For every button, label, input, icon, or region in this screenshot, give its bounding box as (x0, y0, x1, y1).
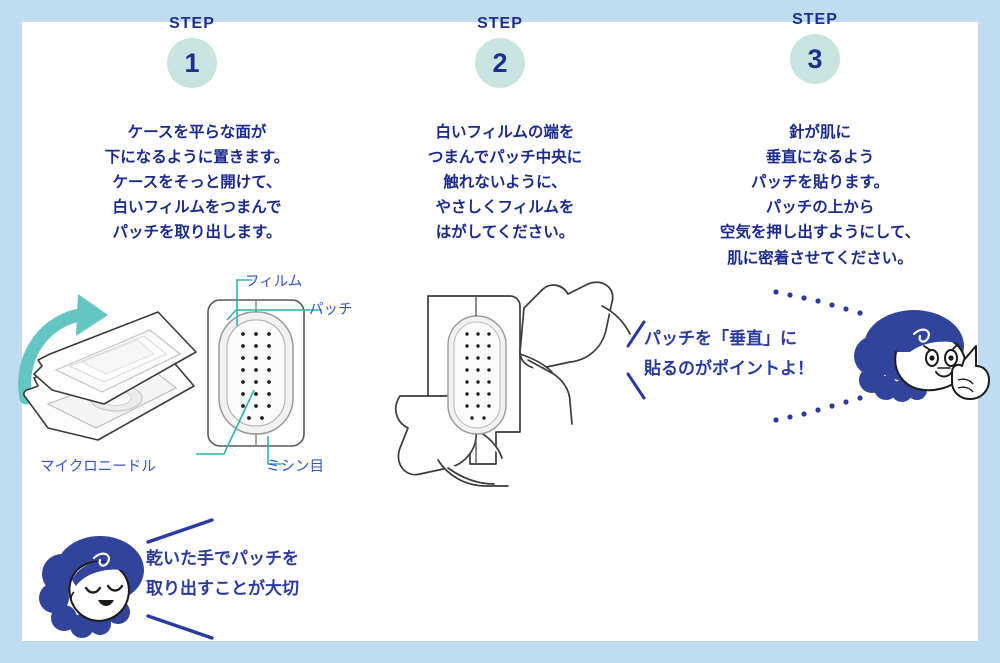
bottom-callout-bracket-top (146, 518, 216, 544)
label-perforation: ミシン目 (266, 455, 324, 476)
step-body-2: 白いフィルムの端を つまんでパッチ中央に 触れないように、 やさしくフィルムを … (380, 120, 630, 246)
bottom-callout-text: 乾いた手でパッチを 取り出すことが大切 (146, 545, 396, 605)
step-header-1: STEP 1 (132, 16, 252, 88)
right-callout-text: パッチを「垂直」に 貼るのがポイントよ！ (644, 325, 874, 385)
label-microneedle: マイクロニードル (40, 455, 156, 476)
character-right (852, 300, 997, 420)
step-word-2: STEP (440, 16, 560, 32)
step-body-1: ケースを平らな面が 下になるように置きます。 ケースをそっと開けて、 白いフィル… (62, 120, 332, 246)
step-header-2: STEP 2 (440, 16, 560, 88)
case-illustration (8, 278, 203, 468)
infographic-root: STEP 1 STEP 2 STEP 3 ケースを平らな面が 下になるように置き… (0, 0, 1000, 663)
step-header-3: STEP 3 (755, 12, 875, 84)
step-body-3: 針が肌に 垂直になるよう パッチを貼ります。 パッチの上から 空気を押し出すよう… (675, 120, 965, 271)
step-circle-3: 3 (790, 34, 840, 84)
step-number-3: 3 (807, 46, 822, 73)
step-word-3: STEP (755, 12, 875, 28)
label-film: フィルム (245, 270, 302, 291)
step-circle-1: 1 (167, 38, 217, 88)
peel-illustration (392, 272, 642, 522)
step-word-1: STEP (132, 16, 252, 32)
bottom-callout-bracket-bottom (146, 614, 216, 640)
step-circle-2: 2 (475, 38, 525, 88)
step-number-1: 1 (184, 50, 199, 77)
step-number-2: 2 (492, 50, 507, 77)
label-patch: パッチ (309, 298, 353, 319)
character-bottom (38, 528, 158, 646)
